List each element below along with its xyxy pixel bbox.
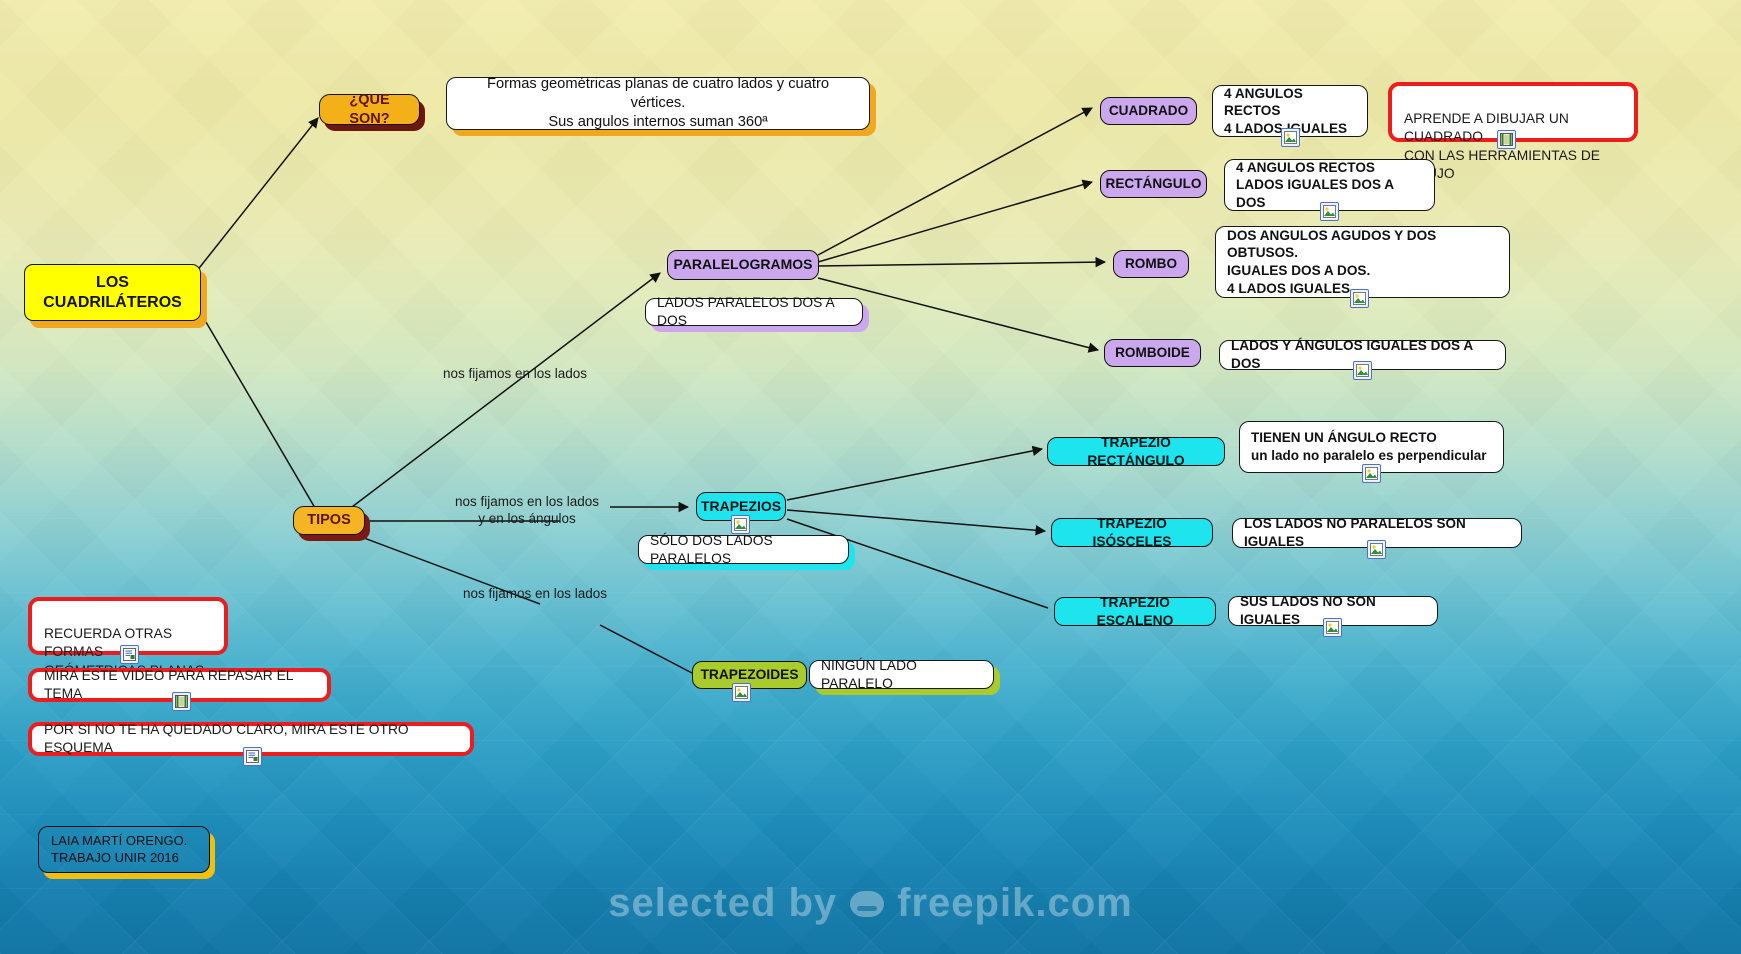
node-trapezios-label: TRAPEZIOS	[701, 498, 781, 516]
desc-paralelogramos: LADOS PARALELOS DOS A DOS	[645, 298, 863, 326]
node-trapezio-isosceles[interactable]: TRAPEZIO ISÓSCELES	[1051, 518, 1213, 547]
watermark-brand: freepik.com	[897, 881, 1133, 926]
node-trapezio-rectangulo-label: TRAPEZIO RECTÁNGULO	[1057, 434, 1215, 468]
film-icon[interactable]	[1497, 130, 1516, 149]
film-icon[interactable]	[172, 692, 191, 711]
desc-trapezios: SÓLO DOS LADOS PARALELOS	[638, 535, 849, 564]
node-author-credit: LAIA MARTÍ ORENGO. TRABAJO UNIR 2016	[38, 826, 210, 873]
wire-label-lados-2: nos fijamos en los lados	[450, 586, 620, 603]
image-icon[interactable]	[1323, 618, 1342, 637]
desc-trapezio-rectangulo-text: TIENEN UN ÁNGULO RECTO un lado no parale…	[1251, 429, 1487, 464]
node-trapezio-isosceles-label: TRAPEZIO ISÓSCELES	[1061, 515, 1203, 549]
wire-tipos-to-paralelogramos	[348, 273, 660, 510]
freepik-logo-icon	[850, 891, 884, 917]
image-icon[interactable]	[1367, 540, 1386, 559]
wire-root-to-quesont	[196, 118, 318, 272]
node-romboide[interactable]: ROMBOIDE	[1104, 339, 1201, 367]
image-icon[interactable]	[1320, 202, 1339, 221]
desc-rombo-text: DOS ANGULOS AGUDOS Y DOS OBTUSOS. IGUALE…	[1227, 227, 1498, 298]
image-icon[interactable]	[1350, 289, 1369, 308]
node-root-label: LOS CUADRILÁTEROS	[34, 273, 191, 313]
wire-trap-to-isosceles	[787, 510, 1045, 531]
freepik-watermark: selected by freepik.com	[0, 881, 1741, 926]
wire-par-to-rombo	[818, 262, 1105, 266]
desc-que-son-text: Formas geométricas planas de cuatro lado…	[458, 75, 858, 132]
image-icon[interactable]	[731, 515, 750, 534]
wire-label-lados-1: nos fijamos en los lados	[430, 366, 600, 383]
wire-par-to-rectangulo	[818, 182, 1092, 262]
document-icon[interactable]	[120, 645, 139, 664]
node-rombo-label: ROMBO	[1125, 256, 1177, 273]
node-romboide-label: ROMBOIDE	[1115, 345, 1190, 362]
image-icon[interactable]	[1353, 361, 1372, 380]
wire-tipos-to-trapezoides-b	[600, 625, 692, 673]
node-root[interactable]: LOS CUADRILÁTEROS	[24, 264, 201, 321]
document-icon[interactable]	[243, 747, 262, 766]
node-tipos-label: TIPOS	[307, 511, 351, 529]
desc-trapezios-text: SÓLO DOS LADOS PARALELOS	[650, 532, 837, 568]
node-trapezio-escaleno[interactable]: TRAPEZIO ESCALENO	[1054, 597, 1216, 626]
node-paralelogramos-label: PARALELOGRAMOS	[674, 256, 813, 274]
node-que-son-label: ¿QUE SON?	[329, 91, 410, 127]
image-icon[interactable]	[1362, 464, 1381, 483]
mindmap-canvas: LOS CUADRILÁTEROS ¿QUE SON? Formas geomé…	[0, 0, 1741, 954]
node-trapezoides-label: TRAPEZOIDES	[700, 666, 798, 683]
desc-trapezoides-text: NINGÚN LADO PARALELO	[821, 657, 982, 693]
node-cuadrado[interactable]: CUADRADO	[1100, 97, 1197, 125]
desc-trapezoides: NINGÚN LADO PARALELO	[809, 660, 994, 689]
desc-paralelogramos-text: LADOS PARALELOS DOS A DOS	[657, 294, 851, 330]
wire-trap-to-rectangulo	[787, 449, 1042, 500]
image-icon[interactable]	[1281, 128, 1300, 147]
watermark-text: selected by	[608, 881, 837, 926]
node-tipos[interactable]: TIPOS	[293, 506, 365, 535]
node-que-son[interactable]: ¿QUE SON?	[319, 94, 420, 125]
wire-label-lados-angulos: nos fijamos en los lados y en los ángulo…	[442, 494, 612, 528]
wire-root-to-tipos	[196, 305, 318, 513]
node-rombo[interactable]: ROMBO	[1113, 250, 1189, 278]
desc-rombo: DOS ANGULOS AGUDOS Y DOS OBTUSOS. IGUALE…	[1215, 226, 1510, 298]
desc-que-son: Formas geométricas planas de cuatro lado…	[446, 77, 870, 130]
node-author-credit-text: LAIA MARTÍ ORENGO. TRABAJO UNIR 2016	[51, 833, 187, 866]
node-cuadrado-label: CUADRADO	[1109, 103, 1188, 120]
node-rectangulo-label: RECTÁNGULO	[1106, 176, 1202, 193]
node-rectangulo[interactable]: RECTÁNGULO	[1100, 170, 1207, 198]
node-trapezio-rectangulo[interactable]: TRAPEZIO RECTÁNGULO	[1047, 437, 1225, 466]
node-trapezio-escaleno-label: TRAPEZIO ESCALENO	[1064, 594, 1206, 628]
image-icon[interactable]	[732, 683, 751, 702]
node-paralelogramos[interactable]: PARALELOGRAMOS	[667, 250, 819, 280]
